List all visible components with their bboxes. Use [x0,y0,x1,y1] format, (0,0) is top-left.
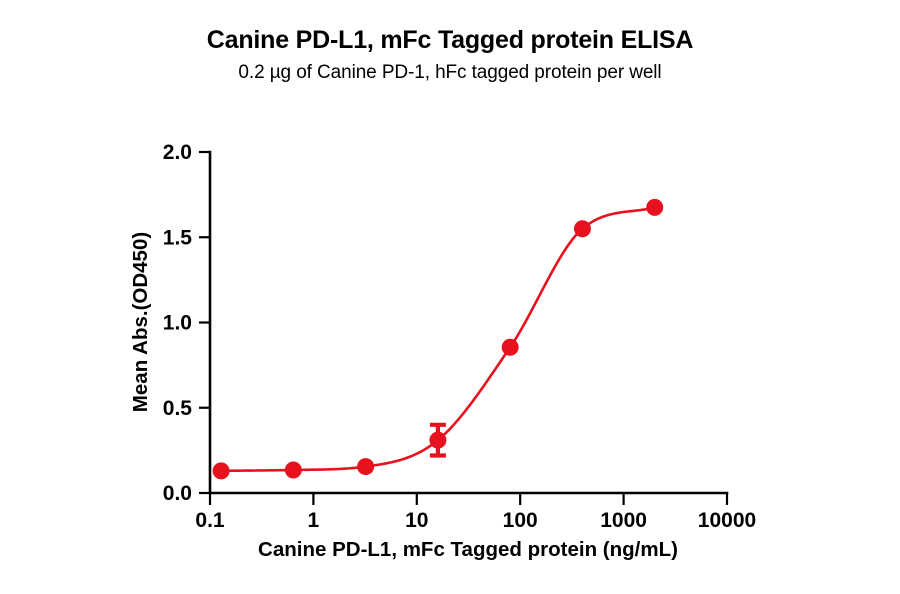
data-point [213,462,230,479]
y-tick-label: 1.5 [163,226,193,249]
y-tick-group: 0.00.51.01.52.0 [163,141,210,505]
data-point [646,199,663,216]
data-point [502,339,519,356]
y-tick-label: 1.0 [163,312,192,335]
chart-page: Canine PD-L1, mFc Tagged protein ELISA 0… [0,0,900,594]
data-point [429,432,446,449]
y-tick-label: 0.0 [163,482,192,505]
data-point [574,220,591,237]
x-tick-label: 10 [405,509,428,532]
x-tick-label: 0.1 [195,509,225,532]
data-point [357,458,374,475]
x-tick-label: 100 [503,509,538,532]
y-axis-title: Mean Abs.(OD450) [129,232,152,412]
data-point-group [213,199,664,479]
x-axis-title: Canine PD-L1, mFc Tagged protein (ng/mL) [258,538,678,561]
data-point [285,461,302,478]
chart-plot-area: 0.00.51.01.52.0 0.1110100100010000 Canin… [0,0,900,594]
y-tick-label: 0.5 [163,397,193,420]
x-tick-label: 1 [308,509,320,532]
y-tick-label: 2.0 [163,141,192,164]
x-tick-group: 0.1110100100010000 [195,493,756,532]
x-tick-label: 10000 [698,509,756,532]
x-tick-label: 1000 [600,509,647,532]
